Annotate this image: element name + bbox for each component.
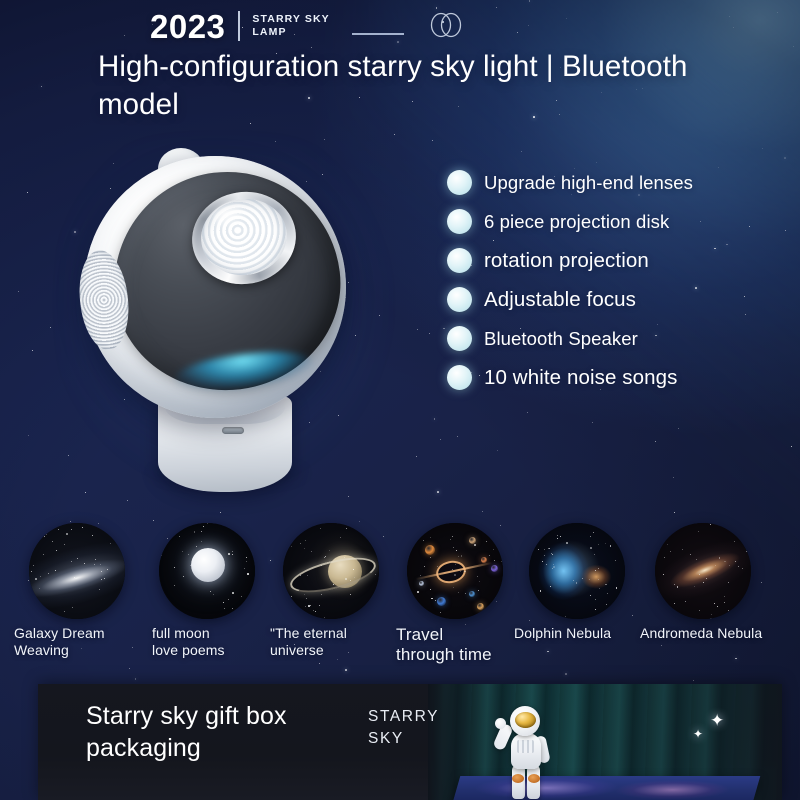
projection-scene-thumbnail[interactable]: "The eternal universe bbox=[268, 518, 394, 658]
feature-label: Bluetooth Speaker bbox=[484, 328, 638, 350]
scene-art bbox=[529, 523, 625, 619]
scene-caption: Travel through time bbox=[396, 625, 518, 665]
feature-bullet-icon bbox=[447, 170, 472, 195]
brand-header: 2023 STARRY SKY LAMP bbox=[150, 6, 466, 46]
projection-scene-row: Galaxy Dream Weavingfull moon love poems… bbox=[0, 518, 800, 670]
scene-art bbox=[29, 523, 125, 619]
scene-image-moon bbox=[159, 523, 255, 619]
astronaut-hand bbox=[495, 718, 506, 729]
feature-bullet-icon bbox=[447, 365, 472, 390]
astronaut-gold-visor bbox=[515, 712, 536, 728]
scene-image-dolphin bbox=[529, 523, 625, 619]
feature-label: Upgrade high-end lenses bbox=[484, 172, 693, 194]
astronaut-right-knee-pad bbox=[528, 774, 540, 783]
feature-item: 6 piece projection disk bbox=[447, 209, 787, 234]
gift-box-subtitle: STARRY SKY bbox=[368, 706, 439, 750]
scene-art bbox=[283, 523, 379, 619]
scene-art bbox=[407, 523, 503, 619]
projection-scene-thumbnail[interactable]: Andromeda Nebula bbox=[640, 518, 766, 642]
projection-scene-thumbnail[interactable]: full moon love poems bbox=[144, 518, 270, 658]
scene-planet bbox=[437, 597, 446, 606]
feature-item: Adjustable focus bbox=[447, 287, 787, 312]
sparkle-star-icon: ✦ bbox=[693, 728, 703, 740]
feature-item: Upgrade high-end lenses bbox=[447, 170, 787, 195]
product-image-starry-sky-projector bbox=[62, 142, 392, 492]
scene-image-saturn bbox=[283, 523, 379, 619]
feature-bullet-icon bbox=[447, 287, 472, 312]
scene-art bbox=[655, 523, 751, 619]
feature-item: 10 white noise songs bbox=[447, 365, 787, 390]
feature-bullet-icon bbox=[447, 326, 472, 351]
feature-label: 6 piece projection disk bbox=[484, 211, 669, 233]
scene-image-galaxy bbox=[29, 523, 125, 619]
scene-image-travel bbox=[407, 523, 503, 619]
astronaut-chest-panel bbox=[517, 740, 534, 753]
page-headline: High-configuration starry sky light | Bl… bbox=[98, 48, 758, 125]
feature-label: 10 white noise songs bbox=[484, 366, 677, 390]
scene-caption: Galaxy Dream Weaving bbox=[14, 625, 140, 658]
scene-planet bbox=[491, 565, 498, 572]
product-marketing-page: 2023 STARRY SKY LAMP High-configuration … bbox=[0, 0, 800, 800]
brand-name-line2: LAMP bbox=[252, 26, 329, 39]
feature-list: Upgrade high-end lenses6 piece projectio… bbox=[447, 170, 787, 404]
feature-bullet-icon bbox=[447, 248, 472, 273]
sparkle-star-icon: ✦ bbox=[710, 712, 724, 729]
scene-image-andromeda bbox=[655, 523, 751, 619]
projection-scene-thumbnail[interactable]: Dolphin Nebula bbox=[514, 518, 640, 642]
double-ellipse-logo-icon bbox=[426, 12, 466, 43]
gift-box-title: Starry sky gift box packaging bbox=[86, 700, 386, 764]
year-label: 2023 bbox=[150, 10, 225, 43]
scene-caption: Dolphin Nebula bbox=[514, 625, 640, 642]
feature-bullet-icon bbox=[447, 209, 472, 234]
scene-planet bbox=[419, 581, 424, 586]
feature-label: Adjustable focus bbox=[484, 288, 636, 312]
scene-caption: Andromeda Nebula bbox=[640, 625, 766, 642]
feature-label: rotation projection bbox=[484, 249, 649, 273]
scene-planet bbox=[481, 557, 487, 563]
header-rule bbox=[352, 33, 404, 35]
header-divider bbox=[238, 11, 240, 41]
scene-planet bbox=[477, 603, 484, 610]
scene-planet bbox=[469, 591, 475, 597]
astronaut-figurine-icon bbox=[490, 702, 556, 800]
feature-item: Bluetooth Speaker bbox=[447, 326, 787, 351]
scene-caption: "The eternal universe bbox=[270, 625, 394, 658]
projection-scene-thumbnail[interactable]: Galaxy Dream Weaving bbox=[14, 518, 140, 658]
projection-scene-thumbnail[interactable]: Travel through time bbox=[392, 518, 518, 665]
product-usb-port bbox=[222, 427, 244, 434]
brand-name-block: STARRY SKY LAMP bbox=[252, 13, 329, 40]
scene-art bbox=[159, 523, 255, 619]
scene-planet bbox=[469, 537, 476, 544]
feature-item: rotation projection bbox=[447, 248, 787, 273]
astronaut-left-knee-pad bbox=[512, 774, 524, 783]
gift-box-panel: Starry sky gift box packaging STARRY SKY… bbox=[38, 684, 782, 800]
brand-name-line1: STARRY SKY bbox=[252, 13, 329, 26]
scene-caption: full moon love poems bbox=[152, 625, 270, 658]
scene-planet bbox=[425, 545, 435, 555]
